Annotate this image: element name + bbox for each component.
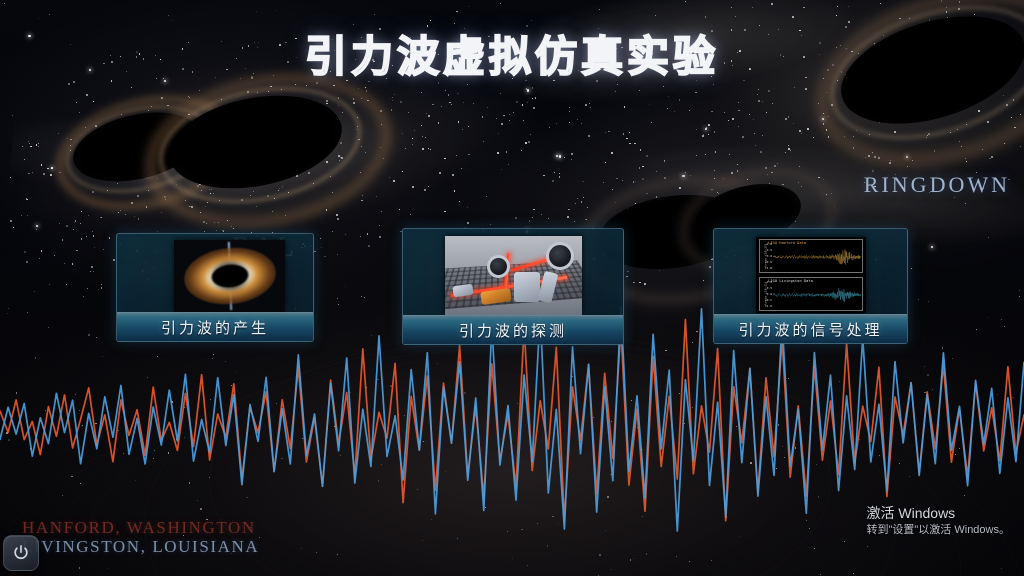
black-hole-accretion-disk-image bbox=[174, 240, 285, 312]
app-stage: RAL RINGDOWN 引力波虚拟仿真实验 HANFORD, WASHINGT… bbox=[0, 0, 1024, 576]
site-livingston-label: LIVINGSTON, LOUISIANA bbox=[22, 537, 259, 557]
activation-subtitle: 转到"设置"以激活 Windows。 bbox=[867, 523, 1011, 538]
waveform-trace-hanford bbox=[0, 320, 1024, 521]
ligo-strain-plots-image: LIGO Hanford Data 1.00.50.0-0.5-1.0 stra… bbox=[756, 237, 866, 313]
optical-mount-centre bbox=[514, 272, 540, 302]
page-title: 引力波虚拟仿真实验 bbox=[0, 36, 1024, 78]
card-2-label[interactable]: 引力波的探测 bbox=[403, 315, 623, 344]
strain-trace bbox=[773, 249, 861, 264]
card-gravitational-wave-signal-processing[interactable]: LIGO Hanford Data 1.00.50.0-0.5-1.0 stra… bbox=[713, 228, 908, 344]
plot-livingston: LIGO Livingston Data 1.00.50.0-0.5-1.0 s… bbox=[759, 277, 863, 311]
plot-hanford-ylabel: strain (10-21) bbox=[764, 243, 768, 268]
power-button[interactable] bbox=[3, 535, 39, 571]
activation-title: 激活 Windows bbox=[867, 504, 1011, 523]
card-3-thumbnail: LIGO Hanford Data 1.00.50.0-0.5-1.0 stra… bbox=[756, 237, 866, 313]
site-hanford-label: HANFORD, WASHINGTON bbox=[22, 518, 256, 538]
black-hole-shadow bbox=[217, 266, 243, 286]
card-1-thumbnail bbox=[174, 240, 285, 312]
card-3-label[interactable]: 引力波的信号处理 bbox=[714, 314, 907, 343]
card-1-label[interactable]: 引力波的产生 bbox=[117, 312, 313, 341]
card-2-thumbnail bbox=[445, 236, 582, 315]
power-icon bbox=[11, 543, 31, 563]
strain-trace bbox=[773, 288, 861, 302]
windows-activation-watermark: 激活 Windows 转到"设置"以激活 Windows。 bbox=[867, 504, 1011, 538]
card-gravitational-wave-detection[interactable]: 引力波的探测 bbox=[402, 228, 624, 345]
michelson-interferometer-image bbox=[445, 236, 582, 315]
plot-livingston-ylabel: strain (10-21) bbox=[764, 281, 768, 306]
stage-label-ringdown: RINGDOWN bbox=[864, 172, 1010, 198]
plot-hanford: LIGO Hanford Data 1.00.50.0-0.5-1.0 stra… bbox=[759, 239, 863, 273]
card-gravitational-wave-generation[interactable]: 引力波的产生 bbox=[116, 233, 314, 342]
